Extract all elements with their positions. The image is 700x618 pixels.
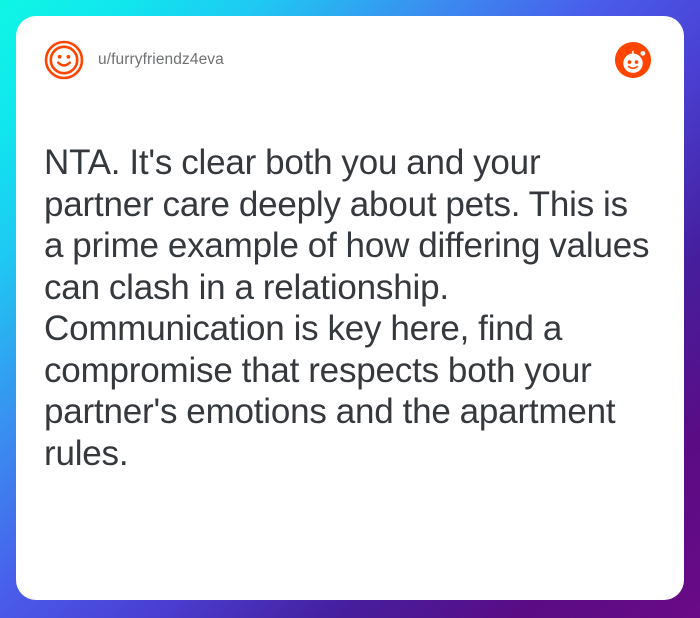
post-body-text: NTA. It's clear both you and your partne… [44,142,656,474]
avatar[interactable] [44,40,84,80]
reddit-snoo-icon [614,41,652,79]
reddit-post-card: u/furryfriendz4eva NTA. [16,16,684,600]
post-header: u/furryfriendz4eva [44,36,656,84]
gradient-background: u/furryfriendz4eva NTA. [0,0,700,618]
username-label[interactable]: u/furryfriendz4eva [98,51,224,69]
smiley-face-icon [44,40,84,80]
